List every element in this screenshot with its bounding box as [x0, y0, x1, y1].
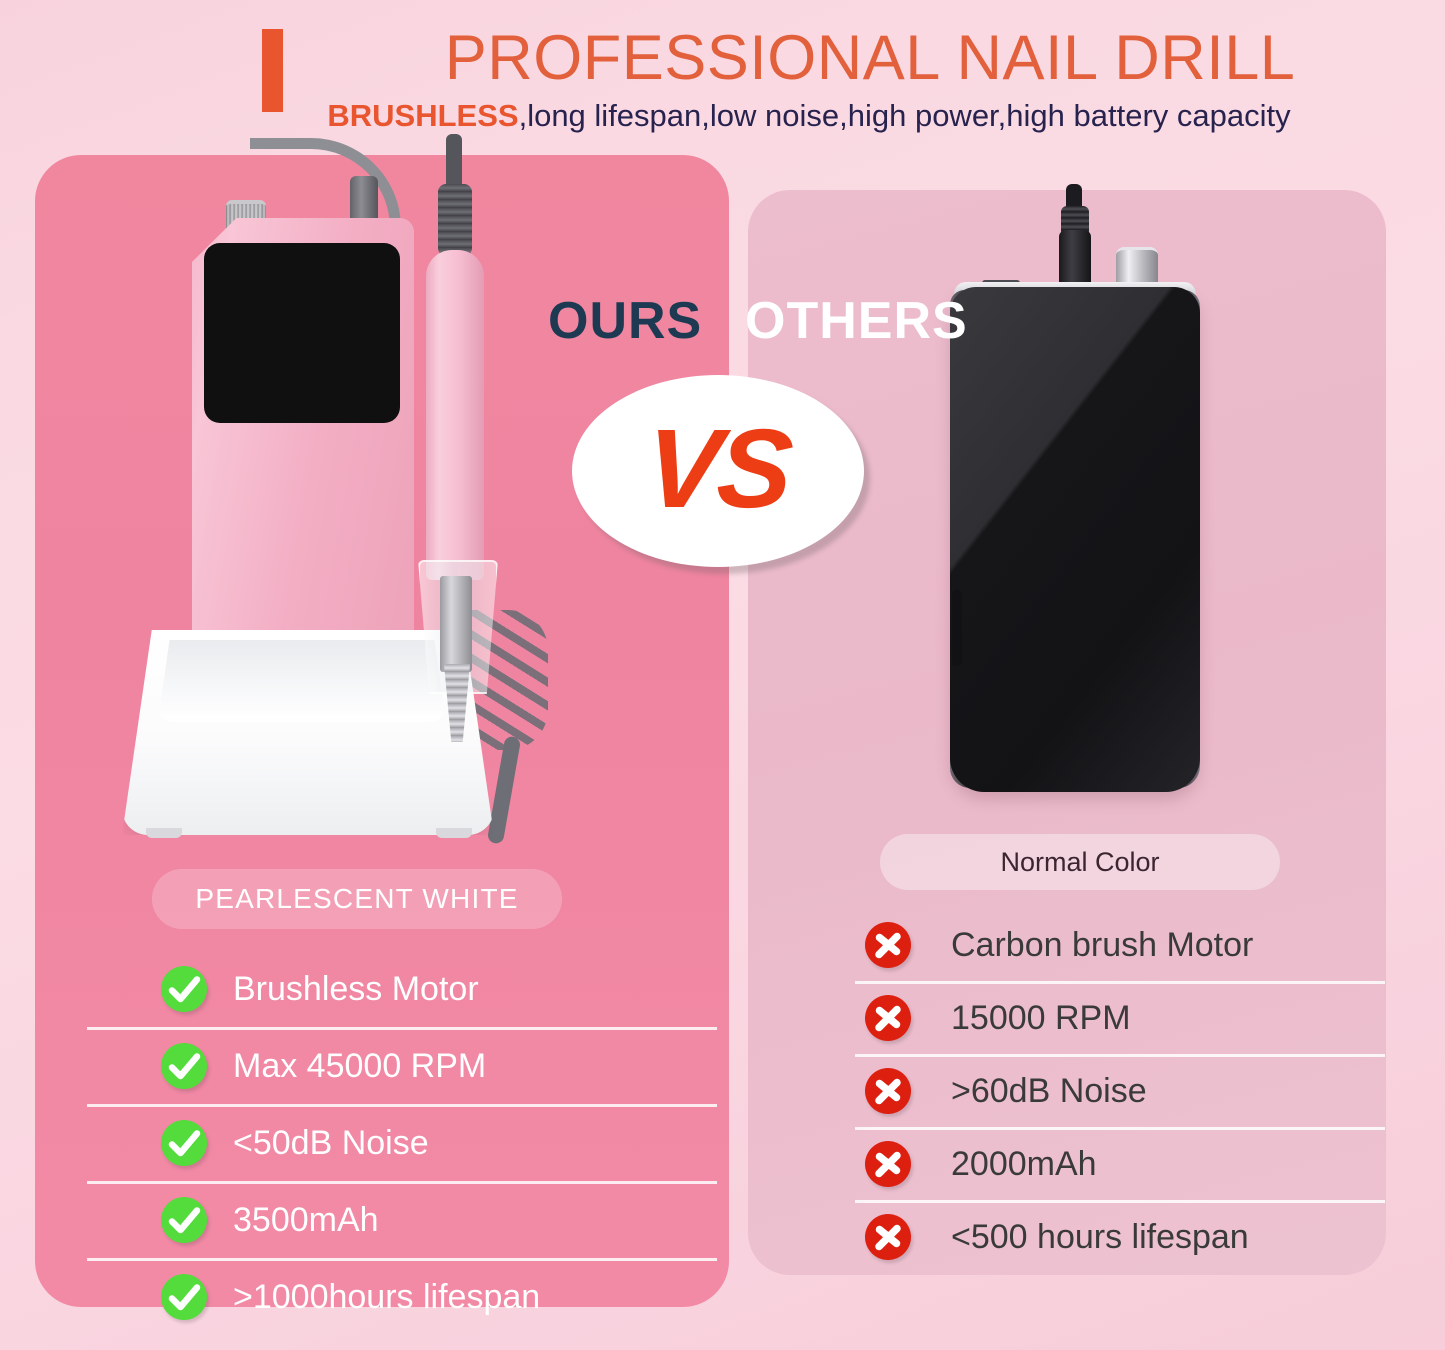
- feature-label: >60dB Noise: [951, 1074, 1147, 1108]
- list-item: 3500mAh: [87, 1181, 717, 1258]
- check-icon: [161, 1274, 207, 1320]
- list-item: <50dB Noise: [87, 1104, 717, 1181]
- others-color-badge: Normal Color: [880, 834, 1280, 890]
- check-icon: [161, 1197, 207, 1243]
- cross-icon: [865, 1141, 911, 1187]
- others-drill-body: [950, 287, 1200, 792]
- cross-icon: [865, 995, 911, 1041]
- stand-foot-right: [436, 828, 472, 838]
- check-icon: [161, 1120, 207, 1166]
- product-comparison-poster: PROFESSIONAL NAIL DRILL BRUSHLESS,long l…: [0, 0, 1445, 1350]
- cord-tail: [487, 735, 522, 844]
- list-item: Max 45000 RPM: [87, 1027, 717, 1104]
- page-subtitle: BRUSHLESS,long lifespan,low noise,high p…: [180, 98, 1438, 134]
- check-icon: [161, 1043, 207, 1089]
- others-side-slot: [952, 590, 962, 666]
- vs-label: VS: [642, 413, 793, 525]
- others-heading: OTHERS: [745, 291, 968, 351]
- feature-label: 3500mAh: [233, 1203, 379, 1237]
- list-item: Carbon brush Motor: [855, 908, 1385, 981]
- list-item: >60dB Noise: [855, 1054, 1385, 1127]
- feature-label: 15000 RPM: [951, 1001, 1131, 1035]
- list-item: >1000hours lifespan: [87, 1258, 717, 1335]
- subtitle-rest: ,long lifespan,low noise,high power,high…: [519, 98, 1291, 133]
- drill-display-screen: [204, 243, 400, 423]
- handpiece: [426, 250, 484, 580]
- vs-badge: VS: [572, 375, 864, 567]
- cross-icon: [865, 922, 911, 968]
- feature-label: <50dB Noise: [233, 1126, 429, 1160]
- ours-heading: OURS: [548, 291, 702, 351]
- others-feature-list: Carbon brush Motor 15000 RPM >60dB Noise…: [855, 908, 1385, 1273]
- cross-icon: [865, 1214, 911, 1260]
- cross-icon: [865, 1068, 911, 1114]
- feature-label: 2000mAh: [951, 1147, 1097, 1181]
- handpiece-shaft: [440, 576, 472, 672]
- ours-feature-list: Brushless Motor Max 45000 RPM <50dB Nois…: [87, 950, 717, 1335]
- subtitle-highlight: BRUSHLESS: [327, 98, 518, 133]
- list-item: 15000 RPM: [855, 981, 1385, 1054]
- feature-label: Carbon brush Motor: [951, 928, 1253, 962]
- stand-foot-left: [146, 828, 182, 838]
- handpiece-cord-strain-relief: [438, 184, 472, 256]
- check-icon: [161, 966, 207, 1012]
- others-product-image: [920, 190, 1240, 840]
- page-title: PROFESSIONAL NAIL DRILL: [300, 25, 1440, 91]
- feature-label: <500 hours lifespan: [951, 1220, 1249, 1254]
- ours-color-badge: PEARLESCENT WHITE: [152, 869, 562, 929]
- list-item: <500 hours lifespan: [855, 1200, 1385, 1273]
- feature-label: Brushless Motor: [233, 972, 479, 1006]
- feature-label: Max 45000 RPM: [233, 1049, 486, 1083]
- feature-label: >1000hours lifespan: [233, 1280, 540, 1314]
- header: PROFESSIONAL NAIL DRILL BRUSHLESS,long l…: [0, 0, 1445, 150]
- list-item: 2000mAh: [855, 1127, 1385, 1200]
- list-item: Brushless Motor: [87, 950, 717, 1027]
- stand-cradle: [158, 640, 446, 722]
- ours-product-image: [100, 140, 580, 860]
